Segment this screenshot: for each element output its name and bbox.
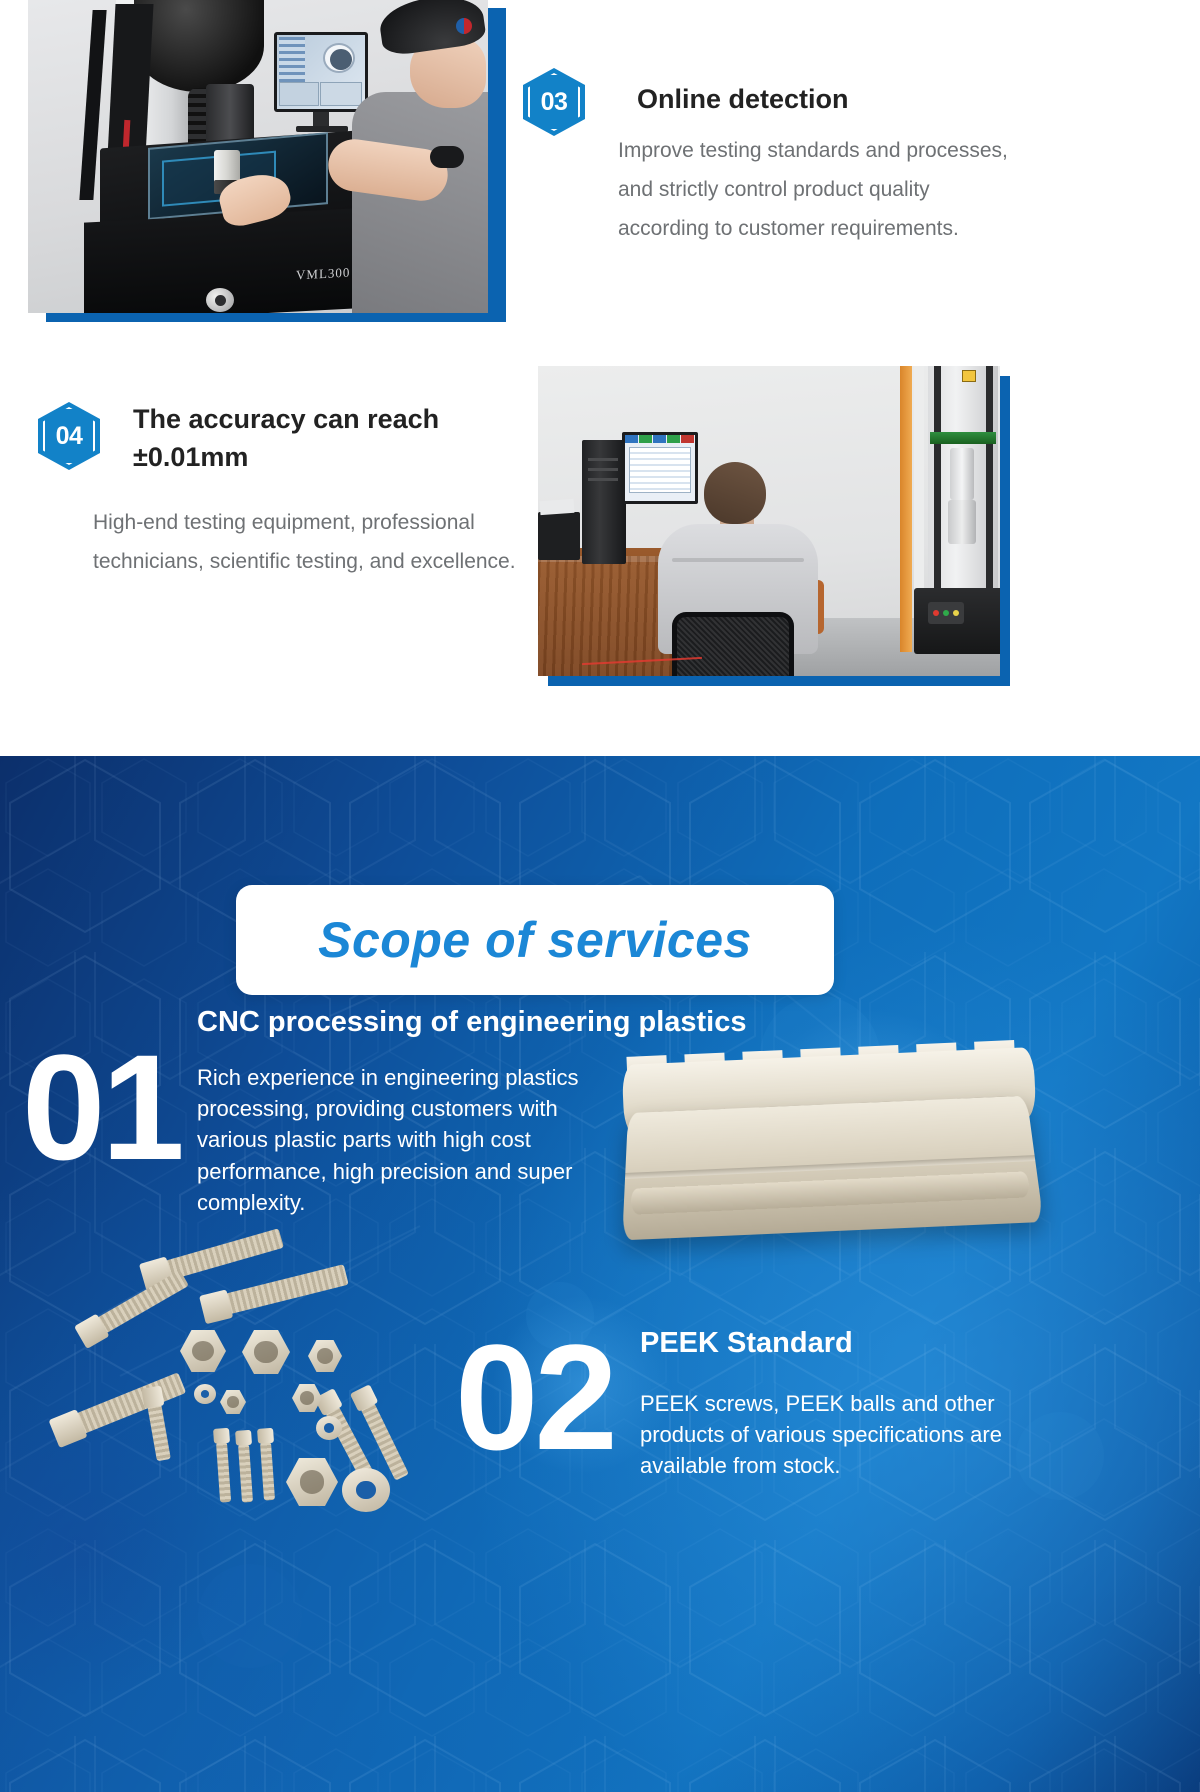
screen-panel-left	[279, 82, 319, 106]
block-title-accuracy: The accuracy can reach ±0.01mm	[133, 400, 533, 477]
bolt-shank	[238, 1444, 253, 1503]
machine-led-red	[933, 610, 939, 616]
technician-head	[704, 462, 766, 524]
monitor-screen	[277, 35, 365, 109]
machine-upper-grip	[950, 448, 974, 500]
service-body-cnc-processing: Rich experience in engineering plastics …	[197, 1062, 597, 1218]
operator-figure	[360, 0, 488, 313]
bolt-head	[235, 1430, 252, 1446]
machine-rail-left	[934, 366, 941, 616]
warning-sticker-icon	[962, 370, 976, 382]
peek-washer	[316, 1416, 342, 1440]
screen-tab	[667, 435, 680, 443]
screen-tab	[653, 435, 666, 443]
orange-wall-strip	[900, 366, 912, 652]
bolt-head	[213, 1428, 230, 1444]
bolt-shank	[147, 1404, 171, 1462]
technician-figure	[648, 462, 828, 676]
photo-frame-online-detection: VML300	[28, 0, 506, 322]
photo-online-detection: VML300	[28, 0, 488, 313]
peek-nut	[220, 1390, 246, 1414]
bolt-head	[257, 1428, 274, 1444]
machine-control-box	[928, 602, 964, 624]
bolt-shank	[76, 1372, 186, 1434]
service-title-peek-standard: PEEK Standard	[640, 1327, 1060, 1360]
screen-tab	[625, 435, 638, 443]
block-body-online-detection: Improve testing standards and processes,…	[618, 132, 1018, 249]
screen-tab	[681, 435, 694, 443]
machine-rail-right	[986, 366, 993, 616]
peek-nut	[292, 1384, 322, 1412]
scope-of-services-banner: Scope of services	[236, 885, 834, 995]
machine-led-yellow	[953, 610, 959, 616]
top-white-section: VML300 03 Online detection Improve testi…	[0, 0, 1200, 840]
tower-vent	[588, 478, 618, 481]
peek-nut	[180, 1330, 226, 1372]
lens-hood	[134, 0, 264, 92]
printer	[538, 512, 580, 560]
service-body-peek-standard: PEEK screws, PEEK balls and other produc…	[640, 1388, 1040, 1482]
machine-led-green	[943, 610, 949, 616]
peek-nut	[308, 1340, 342, 1372]
service-title-cnc-processing: CNC processing of engineering plastics	[197, 1006, 957, 1039]
bolt-shank	[260, 1442, 275, 1501]
peek-washer	[342, 1468, 390, 1512]
service-number-02: 02	[455, 1322, 614, 1472]
bolt-head	[141, 1385, 164, 1408]
peek-washer	[194, 1384, 216, 1404]
machine-model-label: VML300	[296, 265, 350, 284]
badge-number-04: 04	[38, 402, 100, 470]
machine-monitor	[274, 32, 368, 112]
adjustment-knob	[206, 288, 234, 312]
photo-testing-lab	[538, 366, 1000, 676]
computer-mouse	[430, 146, 464, 168]
tower-vent	[588, 468, 618, 471]
peek-nut	[286, 1458, 338, 1506]
peek-nut	[242, 1330, 290, 1374]
hexagon-badge-04: 04	[38, 402, 100, 470]
tower-vent	[588, 458, 618, 461]
cap-logo	[456, 18, 472, 34]
screen-measurement-circle	[323, 43, 355, 73]
screen-tab	[639, 435, 652, 443]
office-chair	[672, 612, 794, 676]
photo-frame-accuracy	[538, 366, 1010, 686]
banner-title: Scope of services	[318, 911, 752, 969]
block-body-accuracy: High-end testing equipment, professional…	[93, 504, 523, 582]
screen-toolbar	[279, 37, 305, 82]
bolt-shank	[225, 1264, 348, 1314]
hexagon-badge-03: 03	[523, 68, 585, 136]
workpiece-sample	[214, 150, 240, 184]
badge-number-03: 03	[523, 68, 585, 136]
tensile-testing-machine	[924, 366, 1000, 648]
screen-tab-bar	[625, 435, 695, 443]
screen-panel-right	[320, 82, 362, 106]
shirt-fold	[672, 558, 804, 562]
block-title-online-detection: Online detection	[637, 80, 1057, 118]
machine-crosshead	[930, 432, 996, 444]
operator-torso	[352, 92, 488, 313]
part-body	[622, 1096, 1043, 1241]
machine-lower-grip	[948, 500, 976, 544]
service-number-01: 01	[22, 1032, 181, 1182]
computer-tower	[582, 440, 626, 564]
marketing-page: VML300 03 Online detection Improve testi…	[0, 0, 1200, 1792]
image-peek-fasteners	[30, 1268, 460, 1518]
bolt-shank	[216, 1442, 231, 1503]
image-peek-machined-part	[615, 1030, 1045, 1270]
